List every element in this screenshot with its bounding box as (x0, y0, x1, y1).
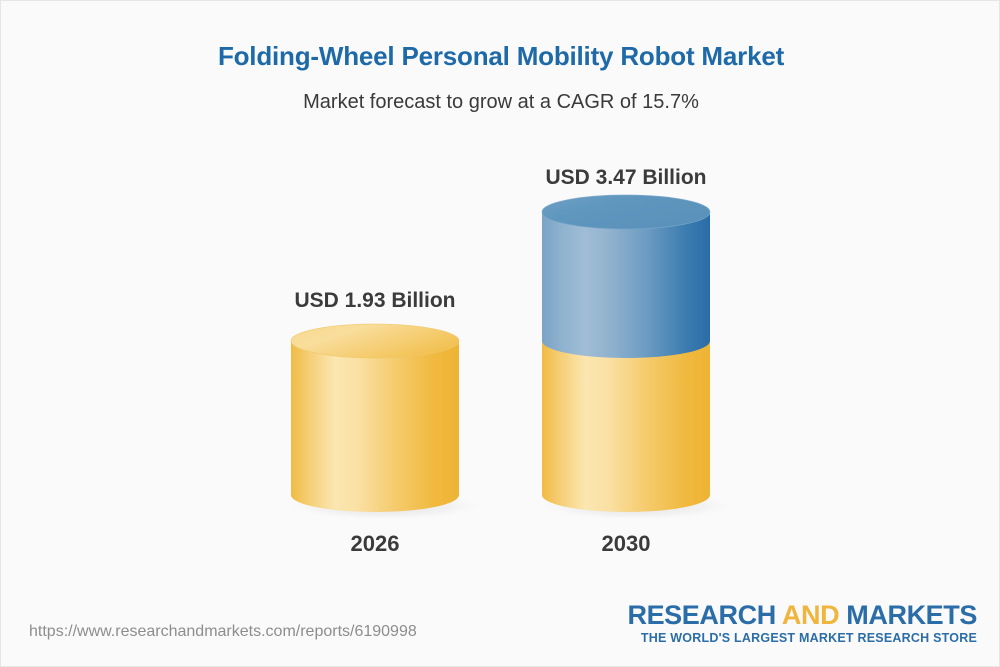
plot-area: USD 1.93 Billion (1, 1, 1000, 601)
chart-canvas: Folding-Wheel Personal Mobility Robot Ma… (0, 0, 1000, 667)
logo-word-research: RESEARCH (627, 600, 775, 630)
logo-tagline: THE WORLD'S LARGEST MARKET RESEARCH STOR… (627, 631, 977, 645)
logo-word-markets: MARKETS (846, 600, 977, 630)
research-and-markets-logo[interactable]: RESEARCH AND MARKETS THE WORLD'S LARGEST… (627, 601, 977, 645)
logo-wordmark: RESEARCH AND MARKETS (627, 601, 977, 629)
logo-word-and: AND (776, 600, 847, 630)
cylinder-2030 (476, 1, 776, 601)
category-label-2030: 2030 (476, 531, 776, 557)
report-url[interactable]: https://www.researchandmarkets.com/repor… (29, 623, 417, 641)
